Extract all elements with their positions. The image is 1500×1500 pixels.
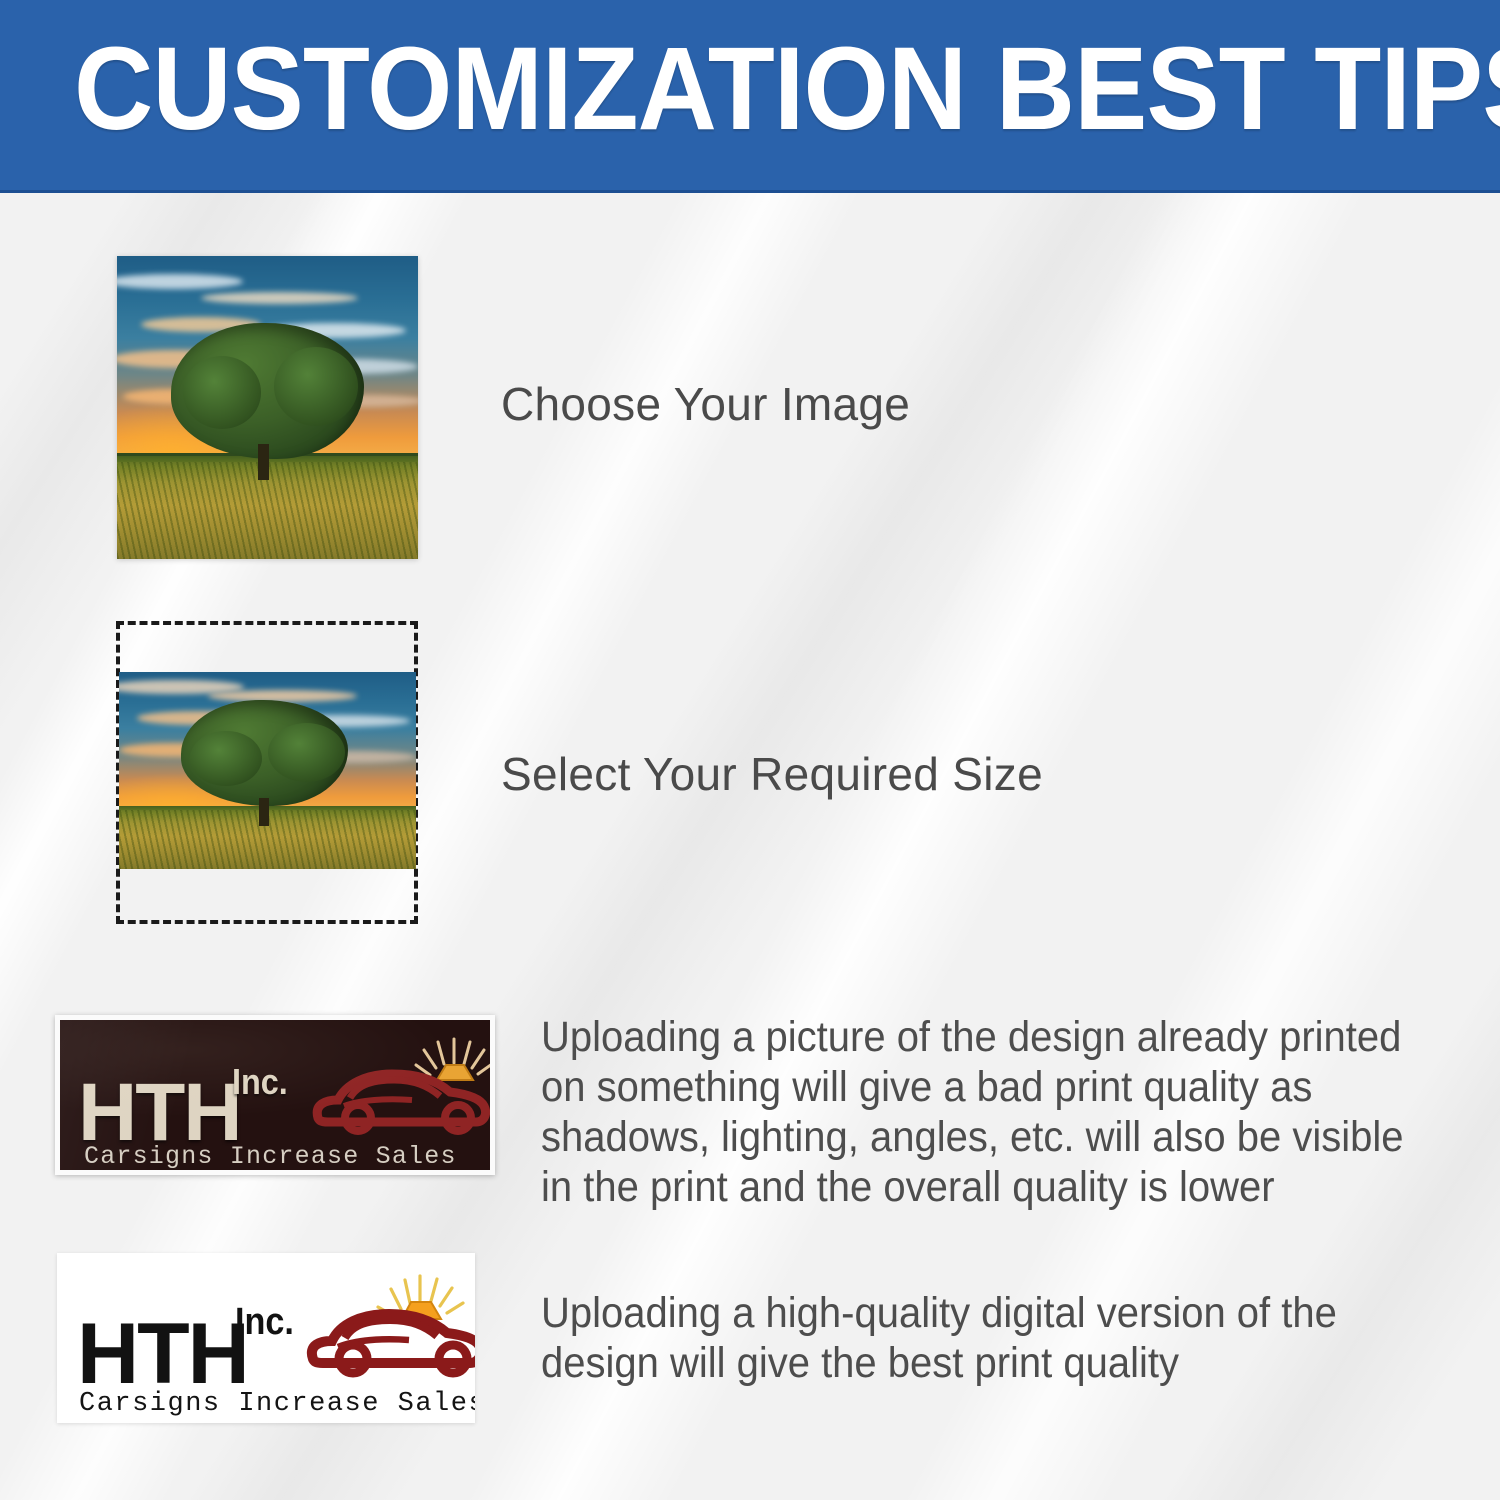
tree-canopy-lobe: [268, 723, 345, 782]
car-illustration-light: [305, 1269, 475, 1381]
step-text-good-upload: Uploading a high-quality digital version…: [541, 1288, 1480, 1388]
para-line: on something will give a bad print quali…: [541, 1062, 1480, 1112]
page-title: CUSTOMIZATION BEST TIPS: [74, 30, 1348, 148]
header-banner: CUSTOMIZATION BEST TIPS: [0, 0, 1500, 193]
tree-trunk: [258, 444, 269, 480]
hth-tagline-light: Carsigns Increase Sales: [79, 1391, 475, 1418]
car-illustration-dark: [308, 1034, 493, 1139]
tree-canopy-lobe: [274, 347, 358, 426]
step-label-select-size: Select Your Required Size: [501, 748, 1043, 800]
para-line: shadows, lighting, angles, etc. will als…: [541, 1112, 1480, 1162]
step-label-choose-image: Choose Your Image: [501, 378, 910, 430]
hth-banner-photo: HTH Inc. Carsigns Increase Sales: [55, 1015, 495, 1175]
tree-photo-square: [117, 256, 418, 559]
poster-root: CUSTOMIZATION BEST TIPS Choose Your Imag…: [0, 0, 1500, 1500]
para-line: Uploading a high-quality digital version…: [541, 1288, 1480, 1338]
para-line: design will give the best print quality: [541, 1338, 1480, 1388]
para-line: Uploading a picture of the design alread…: [541, 1012, 1480, 1062]
tree-photo-cropped: [119, 672, 416, 869]
hth-brand-light: HTH: [77, 1311, 248, 1397]
header-bottom-rule: [0, 190, 1500, 193]
para-line: in the print and the overall quality is …: [541, 1162, 1480, 1212]
hth-suffix-light: Inc.: [235, 1303, 294, 1341]
step-text-bad-upload: Uploading a picture of the design alread…: [541, 1012, 1480, 1212]
cloud: [208, 690, 357, 702]
hth-logo-digital: HTH Inc. Carsigns Increase Sales: [57, 1253, 475, 1423]
hth-suffix-dark: Inc.: [232, 1064, 288, 1100]
hth-tagline-dark: Carsigns Increase Sales: [84, 1144, 457, 1169]
tree-canopy-lobe: [183, 356, 261, 429]
tree-canopy-lobe: [190, 731, 261, 786]
tree-trunk: [259, 798, 269, 826]
